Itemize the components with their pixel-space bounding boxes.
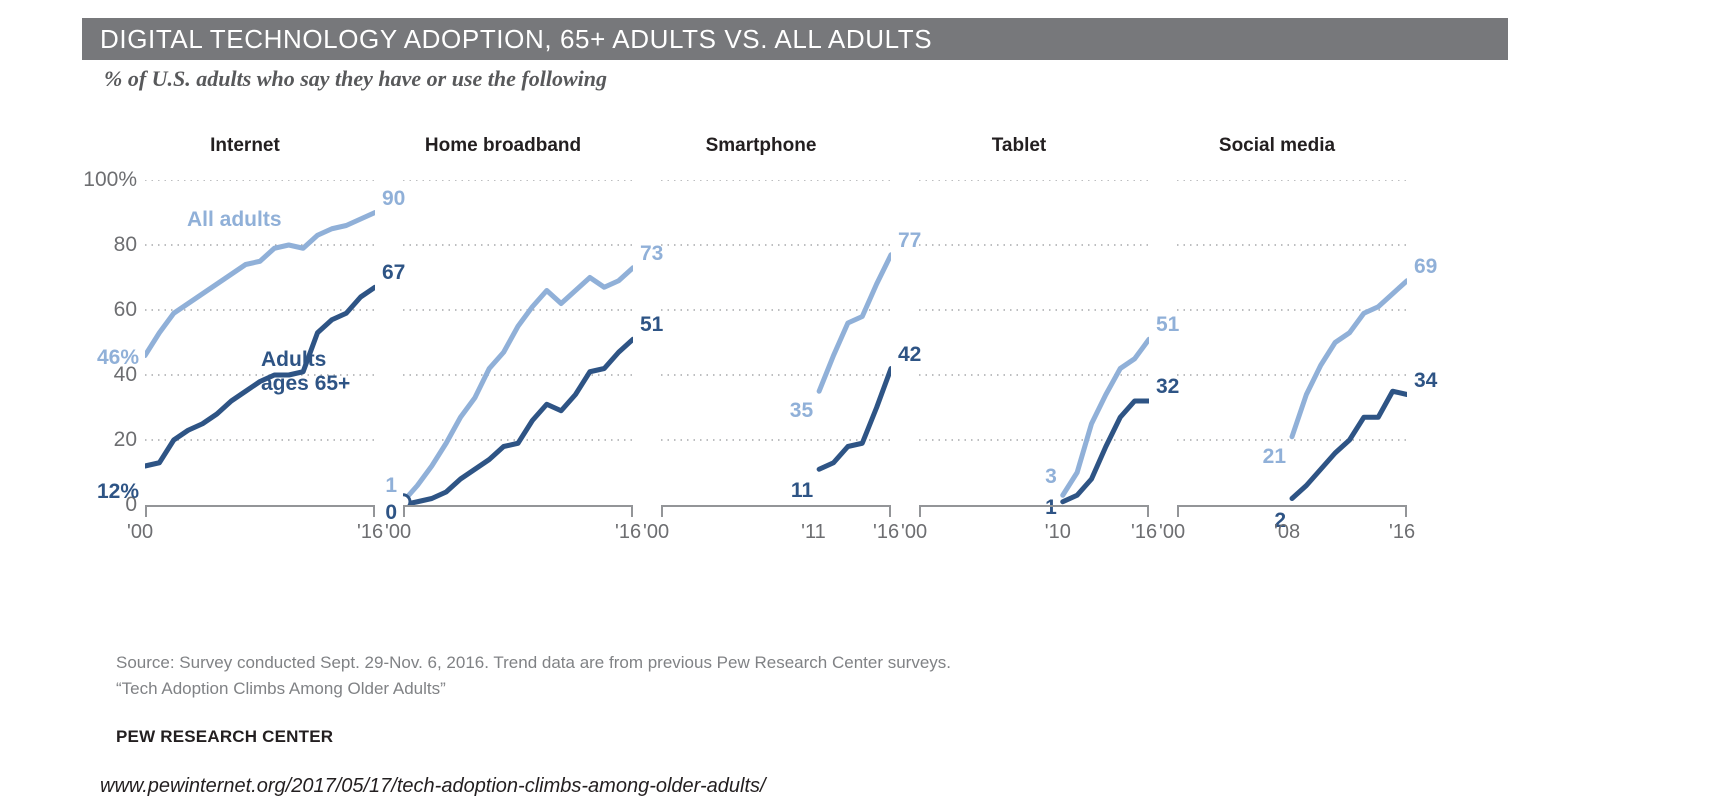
- end-value-label: 69: [1414, 255, 1437, 279]
- x-axis-bracket: [145, 505, 375, 517]
- x-axis-bracket: [661, 505, 891, 517]
- plot-svg: [661, 180, 891, 505]
- panel-home-broadband: Home broadband173051'00'16: [358, 125, 648, 595]
- panel-tablet: Tablet351132'00'10'16: [874, 125, 1164, 595]
- source-line-1: Source: Survey conducted Sept. 29-Nov. 6…: [116, 650, 951, 676]
- y-axis-tick-label: 100%: [83, 168, 137, 192]
- x-axis-tick-label: '00: [643, 521, 669, 544]
- plot-area: 351132: [919, 180, 1149, 505]
- series-line: [1292, 281, 1407, 437]
- start-value-label: 46%: [97, 346, 139, 370]
- panel-title: Tablet: [874, 135, 1164, 157]
- panel-social-media: Social media2169234'00'08'16: [1132, 125, 1422, 595]
- x-axis-tick-label: '11: [801, 521, 826, 544]
- legend-older-adults-line-2: ages 65+: [261, 372, 350, 396]
- start-value-label: 11: [791, 479, 813, 503]
- infographic-page: DIGITAL TECHNOLOGY ADOPTION, 65+ ADULTS …: [0, 0, 1714, 806]
- panel-internet: Internet100%80604020046%9012%67All adult…: [100, 125, 390, 595]
- x-axis-bracket: [403, 505, 633, 517]
- y-axis-tick-label: 80: [114, 233, 137, 257]
- panel-smartphone: Smartphone35771142'00'11'16: [616, 125, 906, 595]
- plot-area: 2169234: [1177, 180, 1407, 505]
- start-value-label: 35: [790, 399, 813, 423]
- series-line: [403, 268, 633, 502]
- start-value-label: 21: [1263, 445, 1286, 469]
- page-title: DIGITAL TECHNOLOGY ADOPTION, 65+ ADULTS …: [100, 24, 932, 55]
- legend-all-adults: All adults: [187, 208, 282, 232]
- legend-older-adults: Adultsages 65+: [261, 348, 350, 396]
- y-axis-tick-label: 60: [114, 298, 137, 322]
- x-axis-bracket: [919, 505, 1149, 517]
- end-value-label: 34: [1414, 369, 1437, 393]
- panel-title: Internet: [100, 135, 390, 157]
- x-axis-bracket: [1177, 505, 1407, 517]
- plot-area: 100%80604020046%9012%67All adultsAdultsa…: [145, 180, 375, 505]
- plot-area: 35771142: [661, 180, 891, 505]
- small-multiples-chart: Internet100%80604020046%9012%67All adult…: [0, 125, 1714, 595]
- panel-title: Social media: [1132, 135, 1422, 157]
- plot-svg: [403, 180, 633, 505]
- x-axis-tick-label: '00: [901, 521, 927, 544]
- plot-area: 173051: [403, 180, 633, 505]
- start-value-label: 12%: [97, 480, 139, 504]
- source-note: Source: Survey conducted Sept. 29-Nov. 6…: [116, 650, 951, 701]
- legend-older-adults-line-1: Adults: [261, 348, 350, 372]
- x-axis-tick-label: '10: [1045, 521, 1071, 544]
- plot-svg: [919, 180, 1149, 505]
- x-axis-tick-label: '00: [385, 521, 411, 544]
- panel-title: Smartphone: [616, 135, 906, 157]
- series-line: [145, 213, 375, 356]
- subtitle: % of U.S. adults who say they have or us…: [104, 66, 607, 92]
- start-value-label: 1: [385, 474, 397, 498]
- title-bar: DIGITAL TECHNOLOGY ADOPTION, 65+ ADULTS …: [82, 18, 1508, 60]
- x-axis-tick-label: '08: [1274, 521, 1300, 544]
- x-axis-tick-label: '00: [1159, 521, 1185, 544]
- y-axis-tick-label: 20: [114, 428, 137, 452]
- start-value-label: 3: [1045, 465, 1057, 489]
- series-line: [1292, 391, 1407, 498]
- organization-name: PEW RESEARCH CENTER: [116, 727, 333, 747]
- panel-title: Home broadband: [358, 135, 648, 157]
- page-url: www.pewinternet.org/2017/05/17/tech-adop…: [100, 775, 766, 798]
- plot-svg: [1177, 180, 1407, 505]
- series-line: [403, 339, 633, 505]
- source-line-2: “Tech Adoption Climbs Among Older Adults…: [116, 676, 951, 702]
- x-axis-tick-label: '00: [127, 521, 153, 544]
- origin-marker: [403, 495, 410, 505]
- x-axis-tick-label: '16: [1389, 521, 1415, 544]
